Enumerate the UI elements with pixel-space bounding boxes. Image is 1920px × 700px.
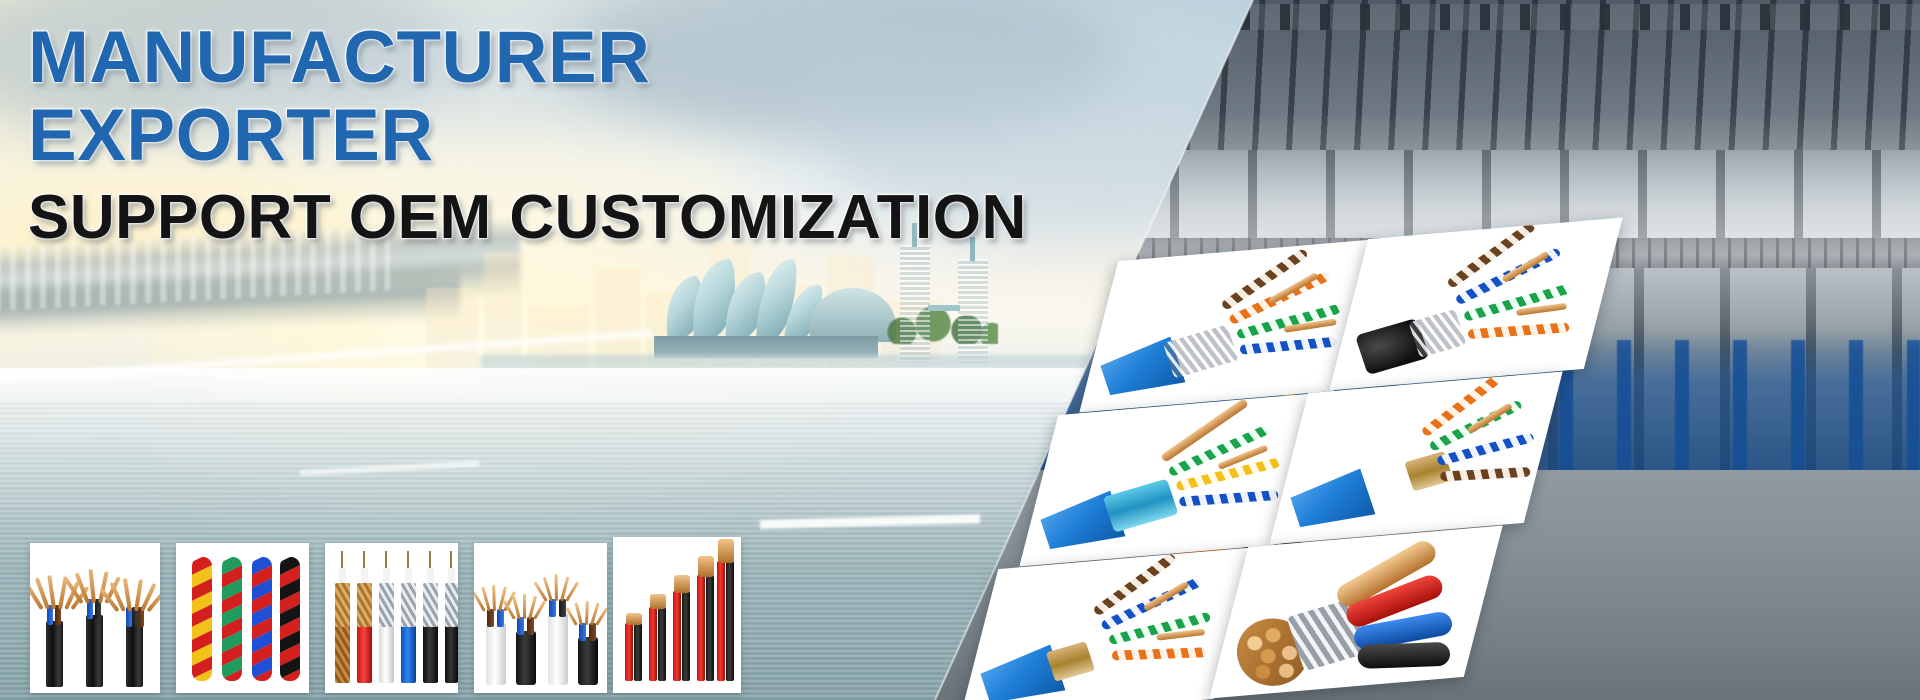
inner-sheath [1103,479,1179,533]
lan-cable-illustration [1330,217,1621,390]
copper-braid-shield [1046,641,1095,682]
parallelogram-tile-grid [0,0,1920,700]
foil-shield [1408,309,1466,358]
power-cable-illustration [1210,525,1501,698]
lan-cable-illustration [1080,239,1371,412]
tile-ftp-shielded-lan-cable[interactable] [1079,239,1372,412]
lan-cable-illustration [960,547,1251,700]
promo-banner: MANUFACTURER EXPORTER SUPPORT OEM CUSTOM… [0,0,1920,700]
tile-cat5e-copper-lan-cable[interactable] [959,547,1252,700]
lan-cable-illustration [1270,371,1561,544]
tile-cat6-lan-cable[interactable] [1019,393,1312,566]
blue-cable-jacket [1288,469,1376,536]
lan-cable-illustration [1020,393,1311,566]
tile-sftp-lan-cable[interactable] [1269,371,1562,544]
foil-shield [1163,325,1239,379]
tile-utp-black-lan-cable[interactable] [1329,217,1622,390]
twisted-pairs [1415,371,1563,506]
tile-armoured-power-cable[interactable] [1209,525,1502,698]
